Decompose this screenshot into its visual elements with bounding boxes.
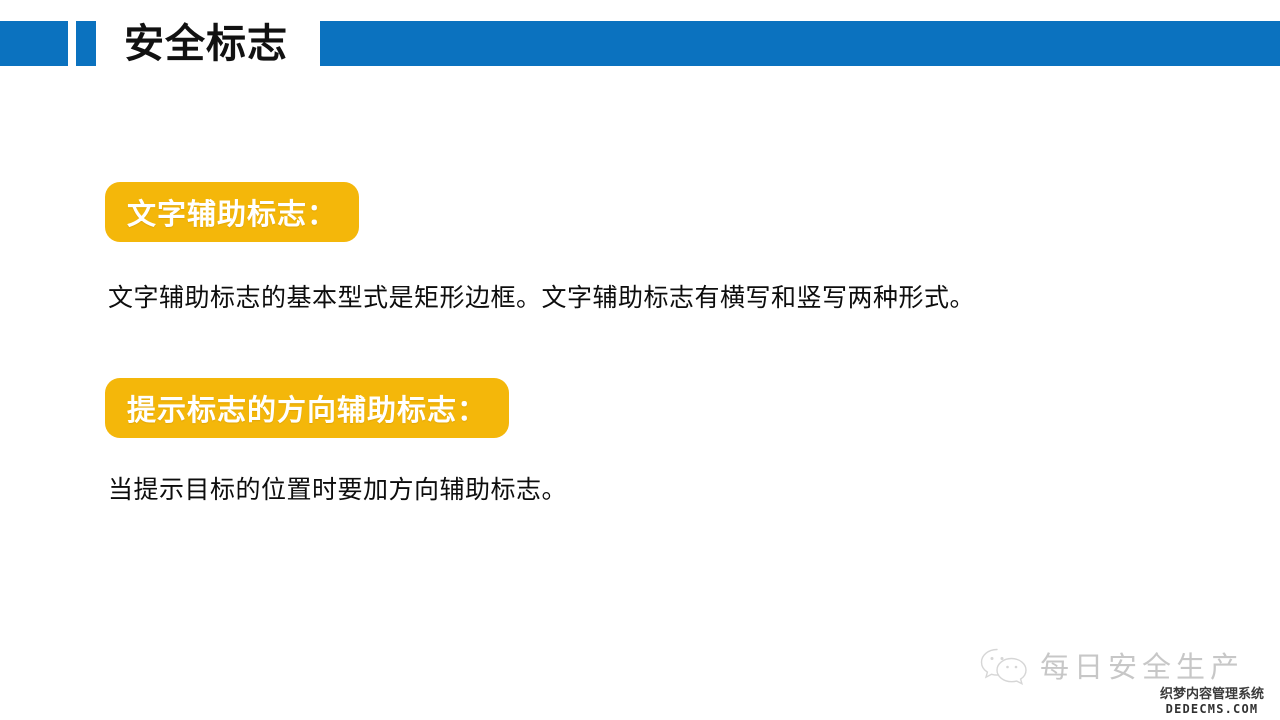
header-accent-block-a: [0, 21, 68, 66]
section-badge-direction-auxiliary-sign: 提示标志的方向辅助标志：: [105, 378, 509, 438]
wechat-account-name: 每日安全生产: [1040, 644, 1244, 686]
wechat-icon: [978, 645, 1030, 685]
section-badge-text-auxiliary-sign: 文字辅助标志：: [105, 182, 359, 242]
page-title: 安全标志: [124, 18, 288, 70]
slide-root: 安全标志 文字辅助标志： 文字辅助标志的基本型式是矩形边框。文字辅助标志有横写和…: [0, 0, 1280, 720]
dedecms-watermark-cn: 织梦内容管理系统: [1148, 688, 1276, 702]
dedecms-watermark: 织梦内容管理系统 DEDECMS.COM: [1148, 688, 1276, 716]
header-accent-block-b: [76, 21, 96, 66]
dedecms-watermark-en: DEDECMS.COM: [1148, 702, 1276, 716]
header-accent-bar: [320, 21, 1280, 66]
slide-header: 安全标志: [0, 0, 1280, 90]
section-body-direction-auxiliary-sign: 当提示目标的位置时要加方向辅助标志。: [108, 470, 567, 506]
wechat-watermark: 每日安全生产: [978, 641, 1208, 689]
section-body-text-auxiliary-sign: 文字辅助标志的基本型式是矩形边框。文字辅助标志有横写和竖写两种形式。: [108, 278, 975, 314]
